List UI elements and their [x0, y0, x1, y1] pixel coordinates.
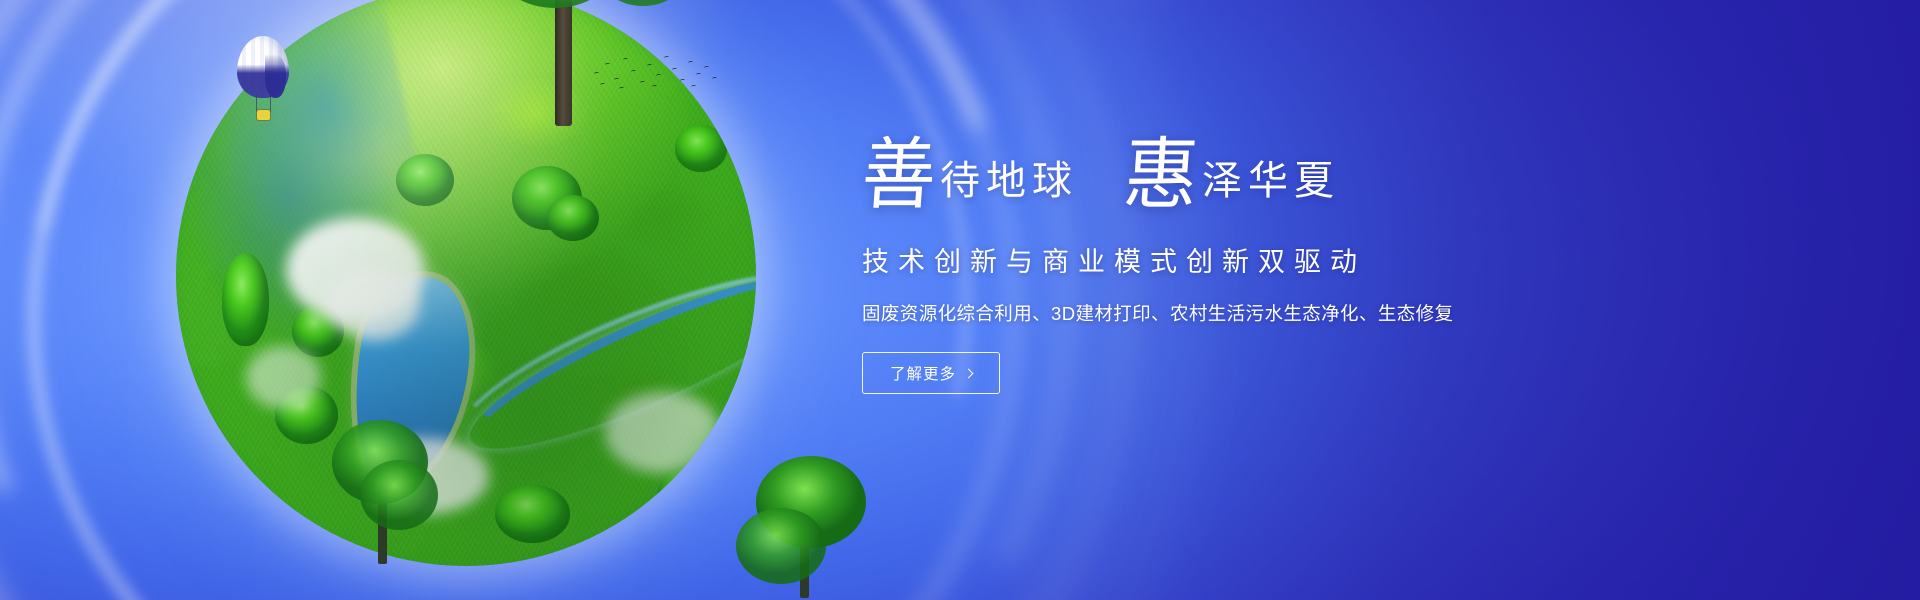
headline-rest-1: 待地球	[940, 161, 1078, 201]
description: 固废资源化综合利用、3D建材打印、农村生活污水生态净化、生态修复	[862, 300, 1622, 326]
headline-rest-2: 泽华夏	[1202, 161, 1340, 201]
headline-lead-char-1: 善	[859, 136, 938, 214]
tree-icon	[326, 416, 446, 566]
bird-flock-icon	[592, 52, 722, 92]
learn-more-label: 了解更多	[890, 362, 956, 384]
balloon-basket	[257, 110, 270, 120]
hero-copy: 善 待地球 惠 泽华夏 技术创新与商业模式创新双驱动 固废资源化综合利用、3D建…	[862, 138, 1622, 394]
tree-canopy	[736, 508, 826, 584]
learn-more-button[interactable]: 了解更多	[862, 352, 1000, 394]
headline-group-2: 惠 泽华夏	[1124, 138, 1340, 212]
subtitle: 技术创新与商业模式创新双驱动	[862, 240, 1622, 279]
hot-air-balloon-icon	[237, 36, 289, 126]
tree-icon	[736, 456, 876, 596]
balloon-envelope	[237, 36, 289, 98]
headline-group-1: 善 待地球	[862, 138, 1078, 212]
chevron-right-icon	[964, 368, 974, 378]
tree-mist	[474, 0, 664, 6]
headline-lead-char-2: 惠	[1121, 136, 1200, 214]
tree-canopy	[360, 460, 438, 530]
hero-banner: 善 待地球 惠 泽华夏 技术创新与商业模式创新双驱动 固废资源化综合利用、3D建…	[0, 0, 1920, 600]
tree-trunk	[555, 0, 572, 126]
headline: 善 待地球 惠 泽华夏	[862, 138, 1622, 230]
